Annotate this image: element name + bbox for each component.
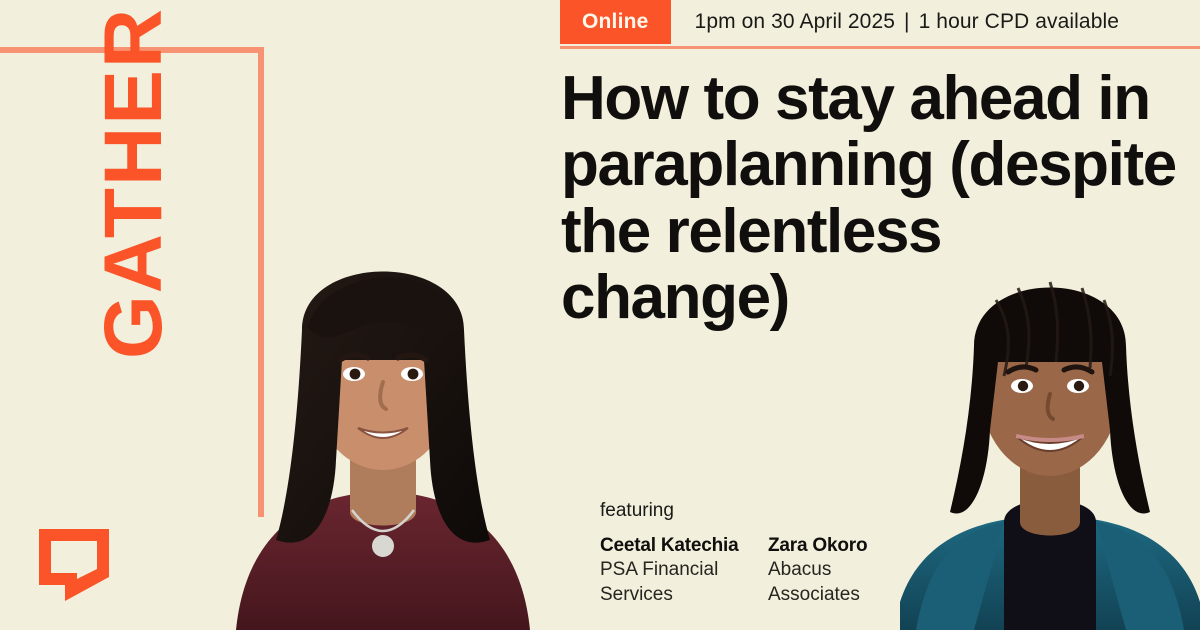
banner-underline bbox=[560, 46, 1200, 49]
speech-bubble-logo-icon bbox=[35, 525, 113, 603]
page-title: How to stay ahead in paraplanning (despi… bbox=[561, 66, 1181, 331]
portrait-speaker-left bbox=[218, 210, 548, 630]
format-badge: Online bbox=[560, 0, 671, 44]
banner-meta: 1pm on 30 April 2025 | 1 hour CPD availa… bbox=[671, 0, 1120, 44]
cpd-note: 1 hour CPD available bbox=[919, 10, 1119, 34]
event-banner: Online 1pm on 30 April 2025 | 1 hour CPD… bbox=[560, 0, 1200, 44]
list-item: Ceetal Katechia PSA Financial Services bbox=[600, 534, 740, 607]
speaker-name: Ceetal Katechia bbox=[600, 534, 740, 558]
list-item: Zara Okoro Abacus Associates bbox=[768, 534, 908, 607]
speaker-org: Abacus Associates bbox=[768, 558, 908, 607]
speaker-org: PSA Financial Services bbox=[600, 558, 740, 607]
featuring-label: featuring bbox=[600, 500, 674, 522]
event-datetime: 1pm on 30 April 2025 bbox=[695, 10, 895, 34]
speaker-name: Zara Okoro bbox=[768, 534, 908, 558]
brand-wordmark: GATHER bbox=[93, 59, 175, 359]
webinar-promo-card: GATHER bbox=[0, 0, 1200, 630]
banner-separator: | bbox=[895, 10, 919, 34]
speaker-list: Ceetal Katechia PSA Financial Services Z… bbox=[600, 534, 908, 607]
